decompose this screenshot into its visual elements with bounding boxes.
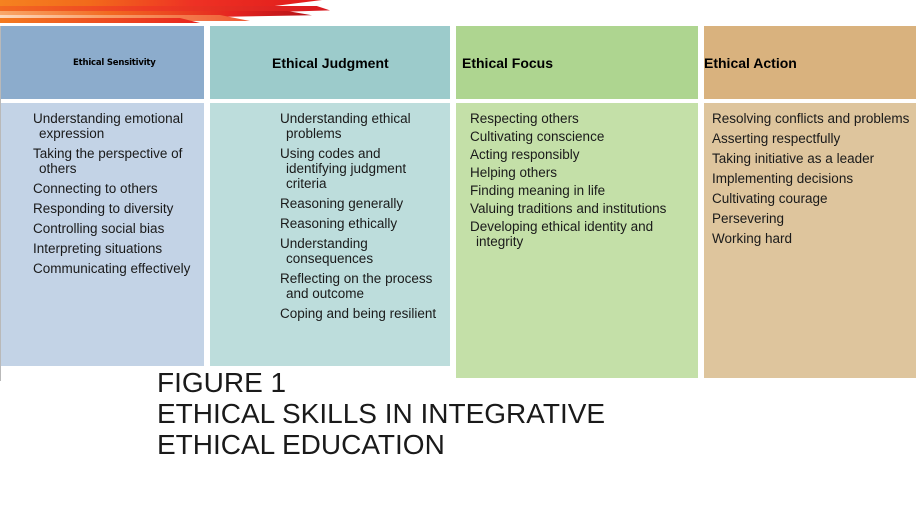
list-item: Finding meaning in life	[462, 183, 692, 198]
list-item: Reasoning generally	[272, 196, 444, 211]
list-item: Valuing traditions and institutions	[462, 201, 692, 216]
list-item: Respecting others	[462, 111, 692, 126]
list-item: Reasoning ethically	[272, 216, 444, 231]
column-header-label: Ethical Action	[704, 55, 797, 71]
column-body-ethical-judgment: Understanding ethical problems Using cod…	[210, 103, 450, 366]
column-header-label: Ethical Judgment	[272, 55, 389, 71]
list-item: Reflecting on the process and outcome	[272, 271, 444, 301]
list-item: Implementing decisions	[704, 171, 911, 186]
column-header-ethical-focus: Ethical Focus	[456, 26, 698, 99]
list-item: Communicating effectively	[25, 261, 198, 276]
ribbon-band-2	[0, 6, 330, 14]
list-item: Responding to diversity	[25, 201, 198, 216]
column-header-label: Ethical Focus	[462, 55, 553, 71]
list-item: Taking the perspective of others	[25, 146, 198, 176]
list-item: Interpreting situations	[25, 241, 198, 256]
column-body-ethical-sensitivity: Understanding emotional expression Takin…	[1, 103, 204, 366]
column-header-ethical-sensitivity: Ethical Sensitivity	[1, 26, 204, 99]
list-item: Understanding consequences	[272, 236, 444, 266]
list-item: Taking initiative as a leader	[704, 151, 911, 166]
skill-list-ethical-sensitivity: Understanding emotional expression Takin…	[25, 111, 198, 276]
list-item: Understanding emotional expression	[25, 111, 198, 141]
caption-line-3: ETHICAL EDUCATION	[157, 429, 605, 460]
list-item: Connecting to others	[25, 181, 198, 196]
ribbon-band-3	[0, 11, 312, 18]
list-item: Resolving conflicts and problems	[704, 111, 911, 126]
caption-line-2: ETHICAL SKILLS IN INTEGRATIVE	[157, 398, 605, 429]
skill-list-ethical-action: Resolving conflicts and problems Asserti…	[704, 111, 911, 246]
column-header-label: Ethical Sensitivity	[1, 58, 156, 68]
list-item: Controlling social bias	[25, 221, 198, 236]
skill-list-ethical-focus: Respecting others Cultivating conscience…	[462, 111, 692, 249]
list-item: Understanding ethical problems	[272, 111, 444, 141]
ribbon-band-4	[0, 15, 250, 21]
list-item: Asserting respectfully	[704, 131, 911, 146]
caption-line-1: FIGURE 1	[157, 367, 605, 398]
column-body-ethical-focus: Respecting others Cultivating conscience…	[456, 103, 698, 378]
list-item: Coping and being resilient	[272, 306, 444, 321]
ethical-skills-figure: Ethical Sensitivity Understanding emotio…	[0, 26, 916, 381]
ribbon-band-1	[0, 0, 322, 9]
list-item: Cultivating conscience	[462, 129, 692, 144]
list-item: Helping others	[462, 165, 692, 180]
figure-caption: FIGURE 1 ETHICAL SKILLS IN INTEGRATIVE E…	[157, 367, 605, 460]
list-item: Using codes and identifying judgment cri…	[272, 146, 444, 191]
list-item: Cultivating courage	[704, 191, 911, 206]
list-item: Persevering	[704, 211, 911, 226]
decorative-swoosh-ribbon	[0, 0, 340, 26]
list-item: Acting responsibly	[462, 147, 692, 162]
column-header-ethical-action: Ethical Action	[704, 26, 916, 99]
ribbon-band-5	[0, 18, 200, 23]
column-body-ethical-action: Resolving conflicts and problems Asserti…	[704, 103, 916, 378]
list-item: Working hard	[704, 231, 911, 246]
list-item: Developing ethical identity and integrit…	[462, 219, 692, 249]
column-header-ethical-judgment: Ethical Judgment	[210, 26, 450, 99]
skill-list-ethical-judgment: Understanding ethical problems Using cod…	[272, 111, 444, 321]
